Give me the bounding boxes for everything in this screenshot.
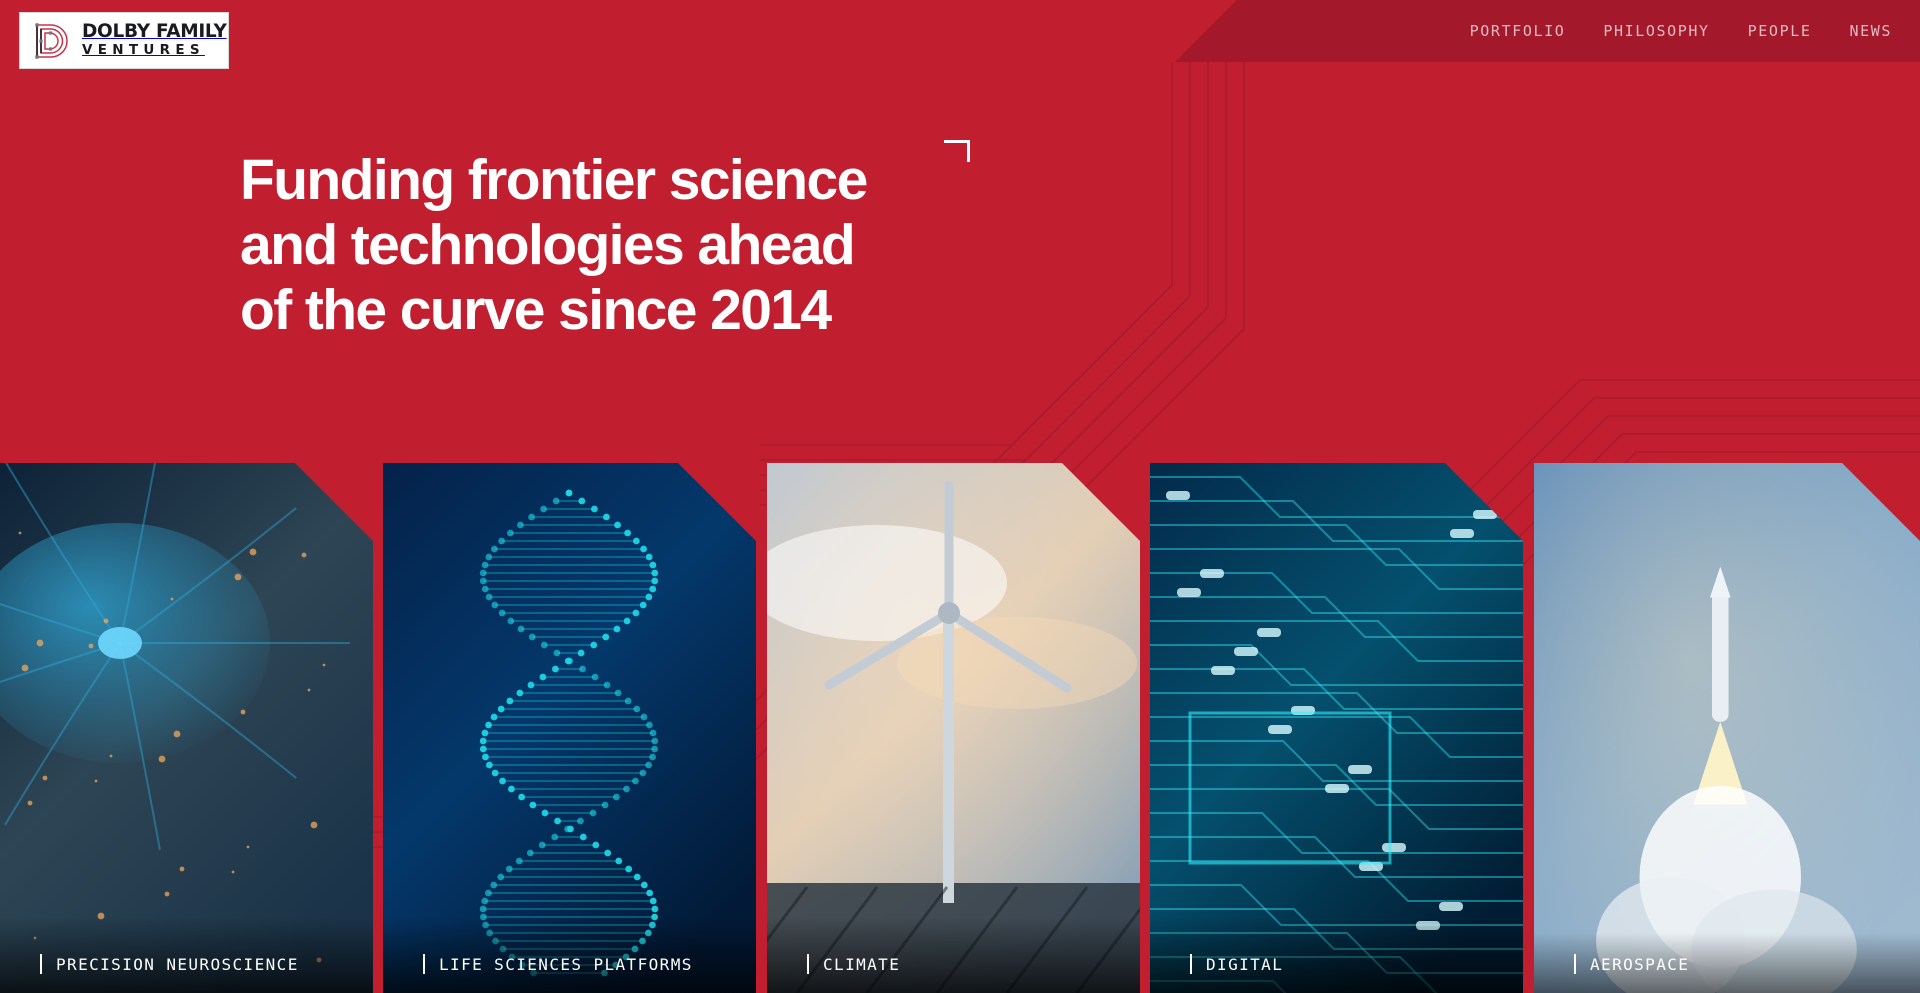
headline-line-3: of the curve since 2014 — [240, 278, 831, 342]
card-label: DIGITAL — [1150, 954, 1283, 974]
nav-item-portfolio[interactable]: PORTFOLIO — [1470, 22, 1566, 40]
label-accent-bar — [1574, 954, 1576, 974]
label-accent-bar — [807, 954, 809, 974]
circuit-board-image — [1150, 463, 1523, 993]
label-accent-bar — [423, 954, 425, 974]
logo-line-1: DOLBY FAMILY — [82, 22, 227, 41]
nav-item-philosophy[interactable]: PHILOSOPHY — [1603, 22, 1709, 40]
category-card[interactable]: CLIMATE — [767, 463, 1140, 993]
nav-item-people[interactable]: PEOPLE — [1748, 22, 1812, 40]
card-label-text: CLIMATE — [823, 955, 900, 974]
headline-line-1: Funding frontier science — [240, 148, 867, 212]
card-label: LIFE SCIENCES PLATFORMS — [383, 954, 693, 974]
category-card[interactable]: PRECISION NEUROSCIENCE — [0, 463, 373, 993]
corner-bracket-icon — [944, 140, 970, 162]
logo-line-2: VENTURES — [82, 42, 227, 59]
card-label-text: LIFE SCIENCES PLATFORMS — [439, 955, 693, 974]
card-label: AEROSPACE — [1534, 954, 1689, 974]
dna-helix-image — [383, 463, 756, 993]
site-logo[interactable]: DOLBY FAMILY VENTURES — [19, 12, 229, 69]
site-header: PORTFOLIO PHILOSOPHY PEOPLE NEWS — [0, 0, 1920, 80]
category-card-strip: PRECISION NEUROSCIENCELIFE SCIENCES PLAT… — [0, 463, 1920, 993]
category-card[interactable]: DIGITAL — [1150, 463, 1523, 993]
label-accent-bar — [40, 954, 42, 974]
page-title: Funding frontier science and technologie… — [240, 148, 867, 343]
headline-line-2: and technologies ahead — [240, 213, 854, 277]
primary-navigation: PORTFOLIO PHILOSOPHY PEOPLE NEWS — [1470, 0, 1920, 62]
rocket-launch-image — [1534, 463, 1920, 993]
category-card[interactable]: AEROSPACE — [1534, 463, 1920, 993]
card-label: PRECISION NEUROSCIENCE — [0, 954, 299, 974]
card-label-text: PRECISION NEUROSCIENCE — [56, 955, 299, 974]
card-label-text: DIGITAL — [1206, 955, 1283, 974]
label-accent-bar — [1190, 954, 1192, 974]
nav-item-news[interactable]: NEWS — [1849, 22, 1892, 40]
wind-turbine-image — [767, 463, 1140, 993]
dolby-d-monogram-icon — [30, 20, 74, 62]
category-card[interactable]: LIFE SCIENCES PLATFORMS — [383, 463, 756, 993]
card-label: CLIMATE — [767, 954, 900, 974]
logo-wordmark: DOLBY FAMILY VENTURES — [82, 22, 227, 58]
hero-section: Funding frontier science and technologie… — [240, 148, 867, 343]
neuron-network-image — [0, 463, 373, 993]
card-label-text: AEROSPACE — [1590, 955, 1689, 974]
